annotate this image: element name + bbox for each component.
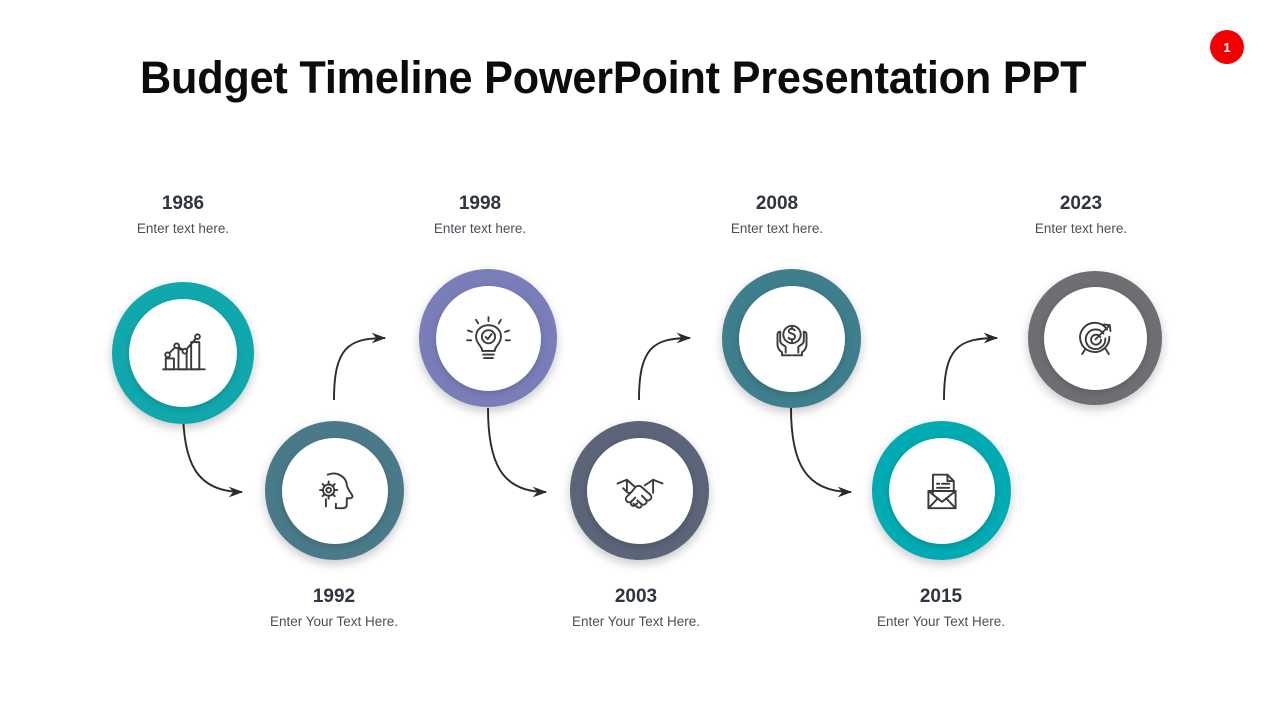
timeline-desc-1986: Enter text here. (53, 219, 313, 239)
timeline-year-2023: 2023 (951, 192, 1211, 216)
hands-holding-money-icon (763, 310, 821, 368)
timeline-desc-1998: Enter text here. (350, 219, 610, 239)
timeline-node-2015[interactable] (872, 421, 1011, 560)
bar-chart-growth-icon (154, 324, 212, 382)
timeline-desc-2023: Enter text here. (951, 219, 1211, 239)
head-gear-icon (306, 462, 364, 520)
page-title: Budget Timeline PowerPoint Presentation … (140, 52, 1086, 104)
page-number-badge: 1 (1210, 30, 1244, 64)
timeline-node-2003[interactable] (570, 421, 709, 560)
connector-6 (944, 338, 997, 400)
timeline-year-2015: 2015 (811, 585, 1071, 609)
timeline-year-2003: 2003 (506, 585, 766, 609)
timeline-desc-2003: Enter Your Text Here. (506, 612, 766, 632)
timeline-node-1992[interactable] (265, 421, 404, 560)
timeline-label-1992: 1992 Enter Your Text Here. (204, 585, 464, 632)
target-arrow-icon (1067, 310, 1124, 367)
page-number-label: 1 (1223, 40, 1230, 55)
timeline-label-2023: 2023 Enter text here. (951, 192, 1211, 239)
connector-3 (488, 408, 546, 492)
timeline-label-1986: 1986 Enter text here. (53, 192, 313, 239)
timeline-year-1986: 1986 (53, 192, 313, 216)
timeline-year-2008: 2008 (647, 192, 907, 216)
handshake-icon (610, 461, 670, 521)
timeline-node-2023[interactable] (1028, 271, 1162, 405)
connector-5 (791, 408, 851, 492)
timeline-desc-1992: Enter Your Text Here. (204, 612, 464, 632)
connector-4 (639, 338, 690, 400)
timeline-node-1998[interactable] (419, 269, 557, 407)
timeline-label-2008: 2008 Enter text here. (647, 192, 907, 239)
timeline-year-1992: 1992 (204, 585, 464, 609)
timeline-desc-2008: Enter text here. (647, 219, 907, 239)
timeline-node-2008[interactable] (722, 269, 861, 408)
timeline-year-1998: 1998 (350, 192, 610, 216)
timeline-label-2015: 2015 Enter Your Text Here. (811, 585, 1071, 632)
timeline-desc-2015: Enter Your Text Here. (811, 612, 1071, 632)
timeline-label-2003: 2003 Enter Your Text Here. (506, 585, 766, 632)
timeline-node-1986[interactable] (112, 282, 254, 424)
timeline-label-1998: 1998 Enter text here. (350, 192, 610, 239)
connector-2 (334, 338, 385, 400)
lightbulb-check-icon (460, 310, 517, 367)
slide-canvas: Budget Timeline PowerPoint Presentation … (0, 0, 1280, 720)
envelope-document-icon (913, 462, 971, 520)
